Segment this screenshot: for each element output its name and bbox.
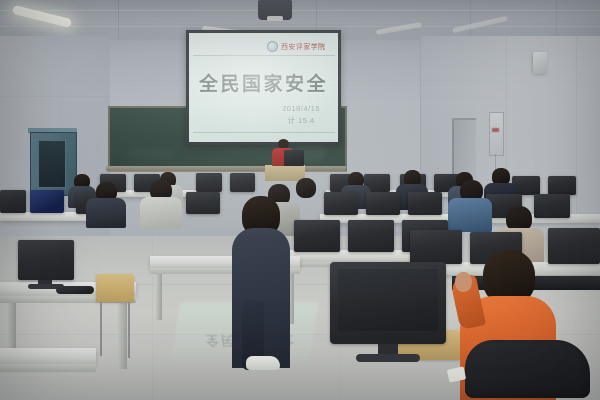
chair-leg xyxy=(128,302,130,358)
monitor-screen xyxy=(338,269,438,331)
projection-screen: 西安评家学院 全民国家安全 2018/4/15 计 15.4 xyxy=(186,30,341,145)
crt-monitor-foreground xyxy=(330,262,446,344)
chalk-smudge xyxy=(128,148,174,160)
student-hand xyxy=(455,272,472,292)
slide-title: 全民国家安全 xyxy=(189,69,338,96)
slide-logo: 西安评家学院 xyxy=(267,41,325,52)
computer-desk-edge xyxy=(0,364,96,372)
seated-student xyxy=(86,198,126,228)
ceiling-grid-line xyxy=(470,0,471,40)
crt-monitor xyxy=(408,192,442,215)
projection-screen-surface: 西安评家学院 全民国家安全 2018/4/15 计 15.4 xyxy=(189,33,338,142)
slide-divider-top xyxy=(193,55,335,56)
crt-monitor xyxy=(366,192,400,215)
equipment-cabinet-door[interactable] xyxy=(38,140,66,188)
wall-seam xyxy=(576,36,577,216)
crt-monitor xyxy=(348,220,394,252)
student-shoe xyxy=(246,356,280,370)
wooden-chair[interactable] xyxy=(96,274,134,302)
crt-monitor xyxy=(410,230,462,264)
crt-monitor xyxy=(230,173,255,192)
lectern-monitor xyxy=(284,150,304,166)
slide-subtext: 计 15.4 xyxy=(282,115,320,127)
seated-student xyxy=(448,198,492,232)
lectern xyxy=(265,165,305,181)
slide-meta: 2018/4/15 计 15.4 xyxy=(282,103,320,126)
headphones xyxy=(56,286,94,294)
crt-monitor xyxy=(18,240,74,280)
wall-seam xyxy=(0,96,110,97)
ceiling-grid-line xyxy=(556,0,557,40)
seated-student-head xyxy=(296,178,316,198)
crt-monitor xyxy=(548,228,600,264)
crt-monitor-powered xyxy=(30,190,64,213)
crt-monitor xyxy=(548,176,576,195)
seated-student xyxy=(140,197,182,229)
crt-monitor xyxy=(0,190,26,213)
chalk-tray xyxy=(106,166,346,171)
crt-monitor xyxy=(196,173,222,192)
classroom-photo: 西安评家学院 全民国家安全 2018/4/15 计 15.4 全民国家安全 xyxy=(0,0,600,400)
ceiling-seam xyxy=(0,10,600,11)
ceiling-seam xyxy=(0,26,600,27)
crt-monitor xyxy=(294,220,340,252)
wall-mounted-unit xyxy=(533,52,547,74)
ceiling-grid-line xyxy=(118,0,119,40)
slide-date: 2018/4/15 xyxy=(282,103,320,115)
crt-monitor xyxy=(186,192,220,214)
black-jacket-on-chair xyxy=(465,340,590,398)
slide-divider-bottom xyxy=(193,132,335,133)
crt-monitor xyxy=(534,194,570,218)
desk-leg xyxy=(156,274,162,320)
slide-logo-text: 西安评家学院 xyxy=(281,42,325,52)
university-seal-icon xyxy=(267,41,278,52)
monitor-base xyxy=(356,354,420,362)
crt-monitor xyxy=(324,192,358,215)
desk-leg xyxy=(118,303,127,369)
wall-notice-panel xyxy=(489,112,504,156)
computer-desk xyxy=(0,348,96,364)
projector-lens-icon xyxy=(267,16,283,21)
wall-panel-marking xyxy=(492,128,499,132)
chair-leg xyxy=(100,302,102,356)
